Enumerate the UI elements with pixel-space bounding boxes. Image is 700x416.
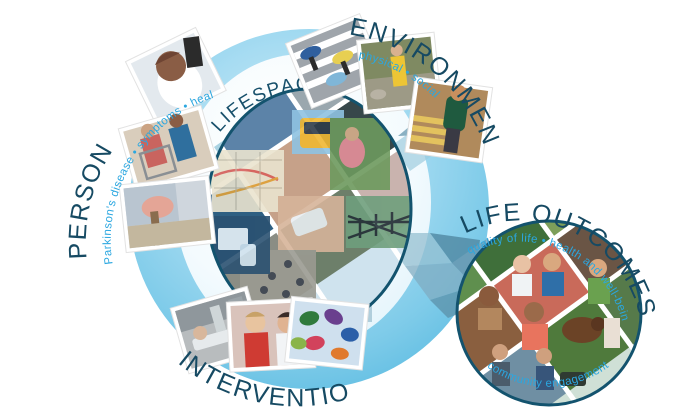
lifespace-framework-diagram: LIFESPACE (0, 0, 700, 416)
person-photo-cluster (118, 27, 226, 252)
figure-canvas: LIFESPACE (0, 0, 700, 416)
